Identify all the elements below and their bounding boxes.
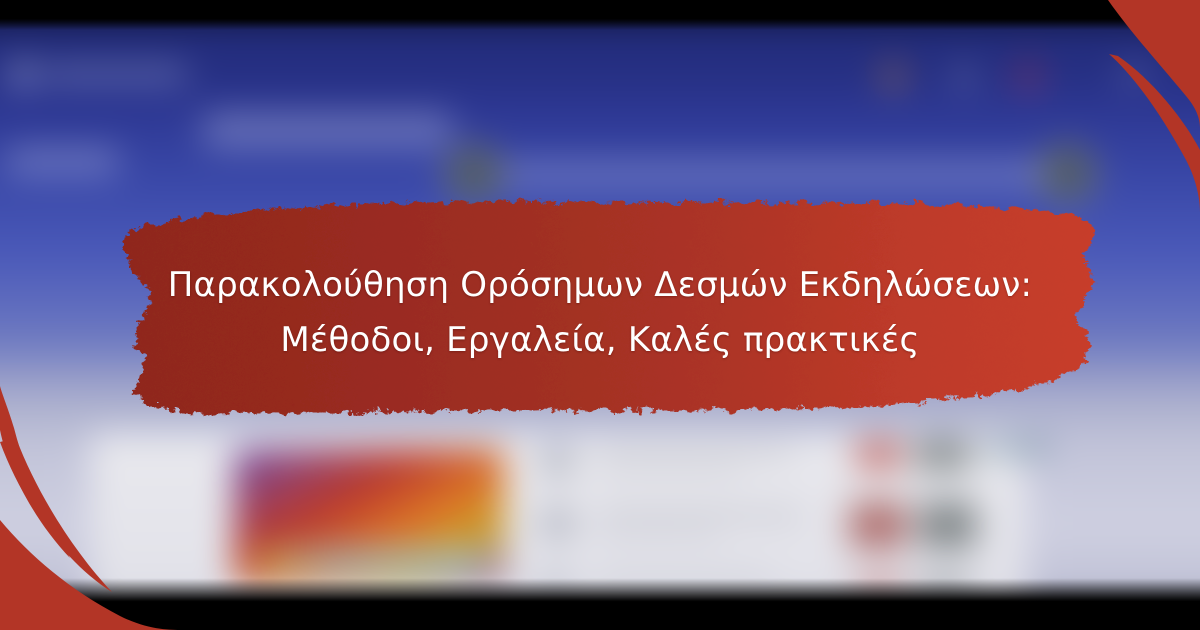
nav-dot-4 (1120, 67, 1147, 82)
list-row-avatar-2 (540, 505, 575, 540)
app-logo-icon (9, 62, 34, 85)
nav-dot-3 (1018, 67, 1039, 88)
status-chip-1a (856, 441, 902, 468)
list-row-title-2 (596, 510, 804, 520)
status-chip-1c (985, 439, 1049, 458)
media-thumbnail-strip (253, 549, 488, 572)
list-row-sub-1 (596, 468, 742, 476)
page-title: Παρακολούθηση Ορόσημων Δεσμών Εκδηλώσεων… (150, 258, 1050, 368)
stepper-connector (504, 160, 1045, 187)
list-row-title-1 (596, 447, 794, 457)
nav-dot-2 (954, 67, 975, 88)
list-row-sub-2 (596, 530, 721, 538)
banner-canvas: Παρακολούθηση Ορόσημων Δεσμών Εκδηλώσεων… (0, 0, 1200, 630)
nav-dot-1 (883, 67, 904, 88)
list-row-avatar-1 (540, 443, 575, 478)
background-search-field (203, 112, 453, 147)
app-logo-text (43, 67, 189, 82)
letterbox-band-bottom (0, 578, 1200, 630)
status-chip-2b (918, 501, 976, 549)
status-chip-1b (914, 439, 970, 470)
background-side-card (5, 148, 119, 175)
status-chip-2a (850, 501, 906, 549)
letterbox-band-top (0, 0, 1200, 30)
